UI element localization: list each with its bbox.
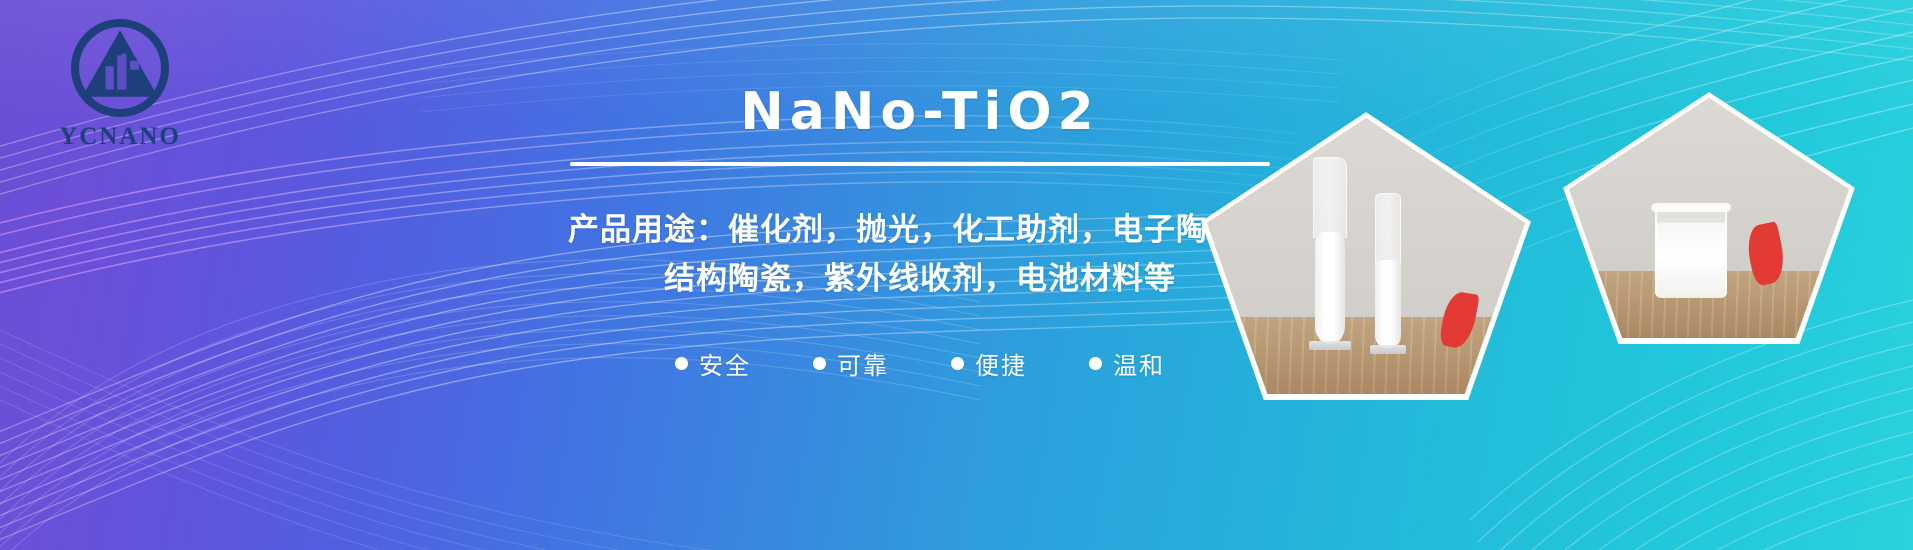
product-photo-group: [1153, 0, 1913, 550]
feature-list: 安全 可靠 便捷 温和: [675, 346, 1165, 381]
dot-icon: [813, 357, 826, 370]
dot-icon: [1089, 357, 1102, 370]
page-title: NaNo-TiO2: [740, 86, 1099, 138]
beaker-object: [1655, 206, 1727, 298]
brand-name: YCNANO: [59, 124, 181, 149]
feature-label: 便捷: [975, 346, 1027, 381]
brand-logo[interactable]: YCNANO: [45, 14, 195, 164]
feature-item-safe: 安全: [675, 346, 751, 381]
tall-vase-object: [1295, 158, 1365, 350]
vase-neck: [1313, 157, 1347, 238]
ycnano-triangle-circle-logo-icon: [66, 14, 174, 122]
beaker-glass: [1655, 206, 1727, 298]
vase-base: [1309, 341, 1351, 350]
photo-frame: [1563, 92, 1855, 344]
vase-body: [1375, 260, 1401, 348]
vase-base: [1370, 345, 1406, 354]
feature-item-reliable: 可靠: [813, 346, 889, 381]
feature-item-convenient: 便捷: [951, 346, 1027, 381]
feature-label: 可靠: [837, 346, 889, 381]
photo-frame: [1201, 112, 1531, 400]
vase-body: [1315, 232, 1345, 344]
product-photo-beaker[interactable]: [1563, 92, 1855, 344]
short-vase-object: [1359, 192, 1417, 354]
photo-image-vases: [1207, 118, 1525, 394]
dot-icon: [675, 357, 688, 370]
product-banner: YCNANO NaNo-TiO2 产品用途：催化剂，抛光，化工助剂，电子陶瓷， …: [0, 0, 1913, 550]
dot-icon: [951, 357, 964, 370]
feature-label: 安全: [699, 346, 751, 381]
photo-image-beaker: [1569, 98, 1849, 338]
product-photo-vases[interactable]: [1201, 112, 1531, 400]
vase-neck: [1375, 193, 1401, 268]
